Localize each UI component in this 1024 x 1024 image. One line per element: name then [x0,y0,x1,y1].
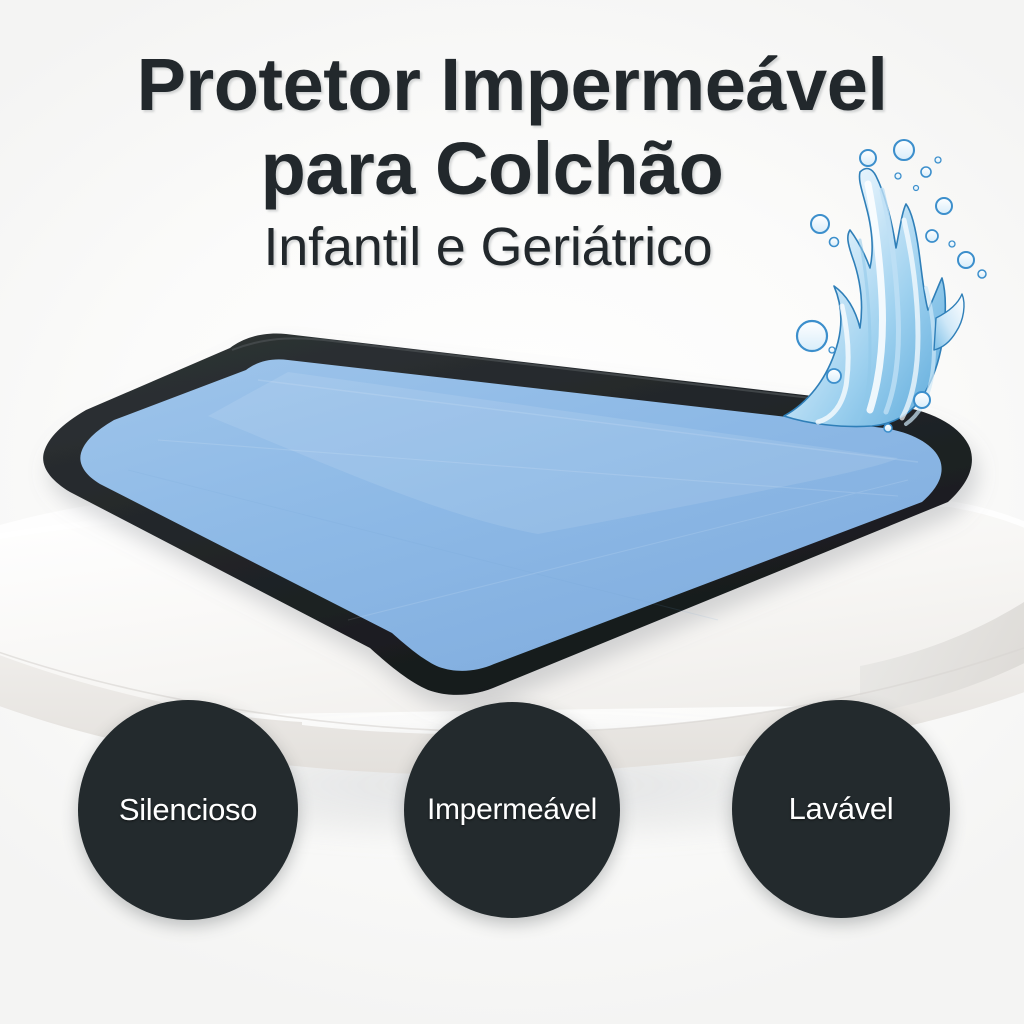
badge-lavavel[interactable]: Lavável [732,700,950,918]
badge-silencioso[interactable]: Silencioso [78,700,298,920]
badge-silencioso-label: Silencioso [119,792,257,828]
product-poster: Protetor Impermeável para Colchão Infant… [0,0,1024,1024]
badge-impermeavel-label: Impermeável [427,793,597,827]
badge-lavavel-label: Lavável [789,791,894,827]
feature-badges: Silencioso Impermeável Lavável [0,0,1024,1024]
badge-impermeavel[interactable]: Impermeável [404,702,620,918]
